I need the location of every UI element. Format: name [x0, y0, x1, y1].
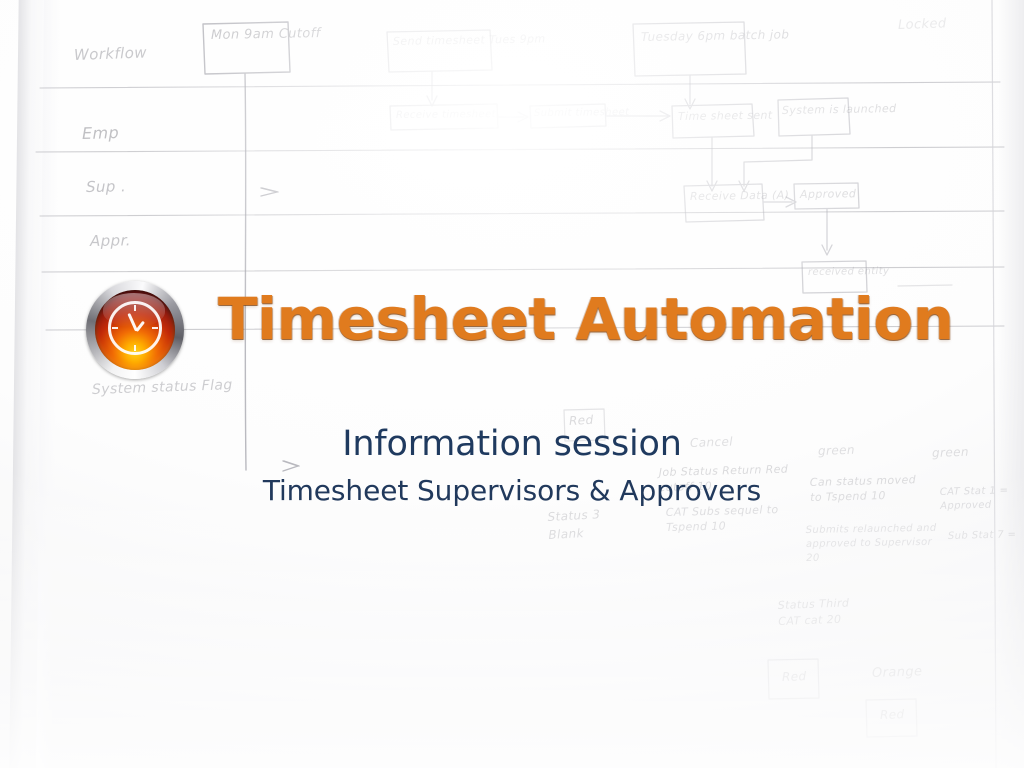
whiteboard-background [0, 0, 1024, 768]
slide-subtitle-secondary: Timesheet Supervisors & Approvers [0, 474, 1024, 507]
slide-subtitle-primary: Information session [0, 424, 1024, 464]
clock-tick-bottom [134, 345, 136, 351]
whiteboard-right-frame-edge [998, 0, 1024, 768]
clock-tick-right [152, 327, 158, 329]
slide-canvas: Workflow Emp Sup . Appr. System status F… [0, 0, 1024, 768]
slide-title: Timesheet Automation [218, 290, 858, 348]
clock-logo [86, 281, 184, 379]
clock-tick-left [112, 327, 118, 329]
clock-tick-top [134, 305, 136, 311]
